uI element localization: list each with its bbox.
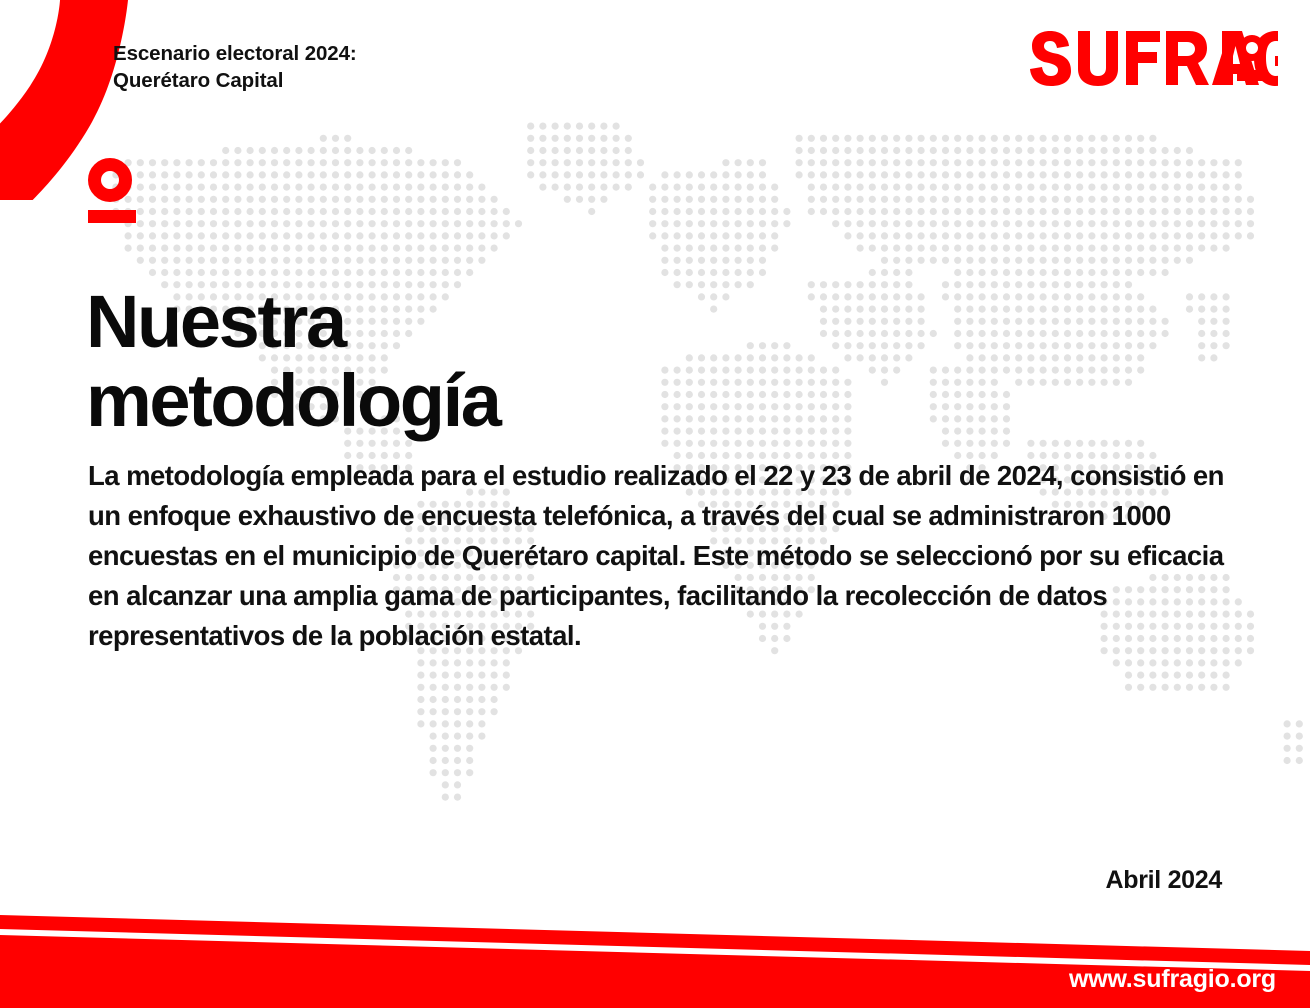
slide-kicker: Escenario electoral 2024: Querétaro Capi… (113, 40, 357, 94)
accent-ring (88, 158, 132, 202)
accent-o-mark (88, 158, 144, 223)
date-label: Abril 2024 (1105, 866, 1222, 895)
slide-root: Escenario electoral 2024: Querétaro Capi… (0, 0, 1310, 1008)
sufragio-logo[interactable] (1026, 30, 1278, 86)
accent-underline (88, 210, 136, 223)
methodology-paragraph: La metodología empleada para el estudio … (88, 456, 1253, 657)
page-title: Nuestra metodología (86, 282, 499, 442)
website-url[interactable]: www.sufragio.org (1069, 965, 1276, 994)
